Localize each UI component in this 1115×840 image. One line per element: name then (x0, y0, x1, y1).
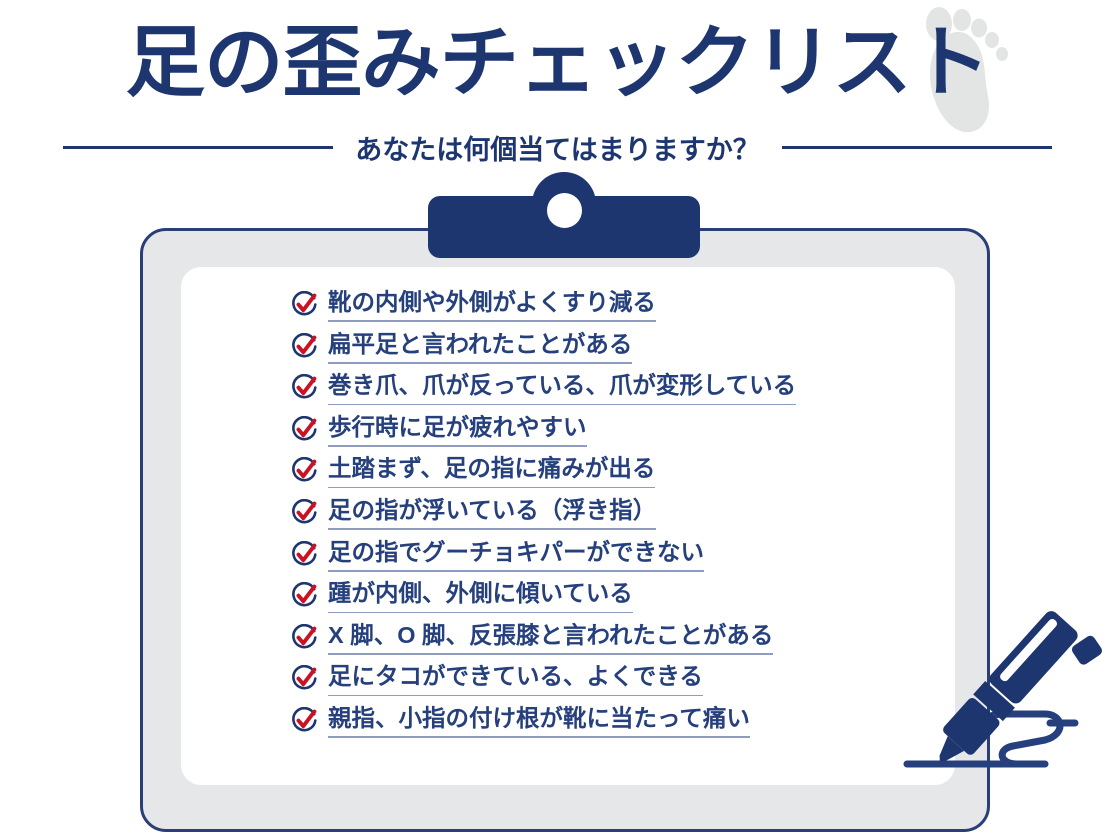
checklist-item[interactable]: 靴の内側や外側がよくすり減る (291, 288, 911, 330)
check-circle-icon[interactable] (291, 582, 318, 609)
rule-left (63, 146, 333, 149)
checklist: 靴の内側や外側がよくすり減る扁平足と言われたことがある巻き爪、爪が反っている、爪… (291, 288, 911, 746)
checklist-item-text-wrap: X 脚、O 脚、反張膝と言われたことがある (328, 621, 773, 650)
checklist-item-text-wrap: 足にタコができている、よくできる (328, 662, 703, 691)
checklist-item-underline (328, 487, 655, 489)
checklist-item-underline (328, 653, 773, 655)
check-circle-icon[interactable] (291, 541, 318, 568)
checklist-item-label: 踵が内側、外側に傾いている (328, 580, 633, 606)
checklist-item-label: 歩行時に足が疲れやすい (328, 414, 587, 440)
checklist-item-label: 扁平足と言われたことがある (328, 331, 632, 357)
check-circle-icon[interactable] (291, 291, 318, 318)
check-circle-icon[interactable] (291, 499, 318, 526)
checklist-item[interactable]: 歩行時に足が疲れやすい (291, 413, 911, 455)
checklist-item-underline (328, 736, 750, 738)
checklist-item-text-wrap: 巻き爪、爪が反っている、爪が変形している (328, 371, 796, 400)
page-header: 足の歪みチェックリスト あなたは何個当てはまりますか？ (0, 0, 1115, 180)
checklist-item-underline (328, 528, 656, 530)
checklist-item[interactable]: 土踏まず、足の指に痛みが出る (291, 454, 911, 496)
checklist-item-underline (328, 404, 796, 406)
check-circle-icon[interactable] (291, 333, 318, 360)
check-circle-icon[interactable] (291, 665, 318, 692)
checklist-item-underline (328, 612, 633, 614)
checklist-item[interactable]: X 脚、O 脚、反張膝と言われたことがある (291, 621, 911, 663)
checklist-item[interactable]: 巻き爪、爪が反っている、爪が変形している (291, 371, 911, 413)
checklist-item-text-wrap: 足の指でグーチョキパーができない (328, 538, 704, 567)
checklist-item-label: X 脚、O 脚、反張膝と言われたことがある (328, 622, 773, 648)
checklist-item-label: 足の指でグーチョキパーができない (328, 539, 704, 565)
page-subtitle: あなたは何個当てはまりますか？ (355, 128, 759, 167)
checklist-item-label: 足にタコができている、よくできる (328, 663, 703, 689)
checklist-item[interactable]: 足にタコができている、よくできる (291, 662, 911, 704)
subtitle-row: あなたは何個当てはまりますか？ (0, 128, 1115, 167)
checklist-item-label: 土踏まず、足の指に痛みが出る (328, 455, 655, 481)
checklist-item-text-wrap: 踵が内側、外側に傾いている (328, 579, 633, 608)
check-circle-icon[interactable] (291, 457, 318, 484)
checklist-item[interactable]: 足の指が浮いている（浮き指） (291, 496, 911, 538)
checklist-item-label: 巻き爪、爪が反っている、爪が変形している (328, 372, 796, 398)
page-title: 足の歪みチェックリスト (0, 14, 1115, 110)
checklist-item-label: 足の指が浮いている（浮き指） (328, 497, 656, 523)
checklist-item-underline (328, 445, 587, 447)
check-circle-icon[interactable] (291, 416, 318, 443)
checklist-item-text-wrap: 歩行時に足が疲れやすい (328, 413, 587, 442)
rule-right (782, 146, 1052, 149)
checklist-item-text-wrap: 土踏まず、足の指に痛みが出る (328, 454, 655, 483)
check-circle-icon[interactable] (291, 707, 318, 734)
checklist-item-underline (328, 570, 704, 572)
checklist-item-text-wrap: 親指、小指の付け根が靴に当たって痛い (328, 704, 750, 733)
checklist-item[interactable]: 親指、小指の付け根が靴に当たって痛い (291, 704, 911, 746)
checklist-item-text-wrap: 扁平足と言われたことがある (328, 330, 632, 359)
clipboard-clip-hole (547, 193, 582, 228)
checklist-item-underline (328, 362, 632, 364)
checklist-item[interactable]: 扁平足と言われたことがある (291, 330, 911, 372)
checklist-item-underline (328, 695, 703, 697)
checklist-item-text-wrap: 足の指が浮いている（浮き指） (328, 496, 656, 525)
checklist-item[interactable]: 踵が内側、外側に傾いている (291, 579, 911, 621)
checklist-item-text-wrap: 靴の内側や外側がよくすり減る (328, 288, 656, 317)
checklist-item-label: 靴の内側や外側がよくすり減る (328, 289, 656, 315)
checklist-item-label: 親指、小指の付け根が靴に当たって痛い (328, 705, 750, 731)
checklist-item-underline (328, 320, 656, 322)
check-circle-icon[interactable] (291, 374, 318, 401)
check-circle-icon[interactable] (291, 624, 318, 651)
pen-signature-icon (895, 588, 1115, 813)
checklist-item[interactable]: 足の指でグーチョキパーができない (291, 538, 911, 580)
